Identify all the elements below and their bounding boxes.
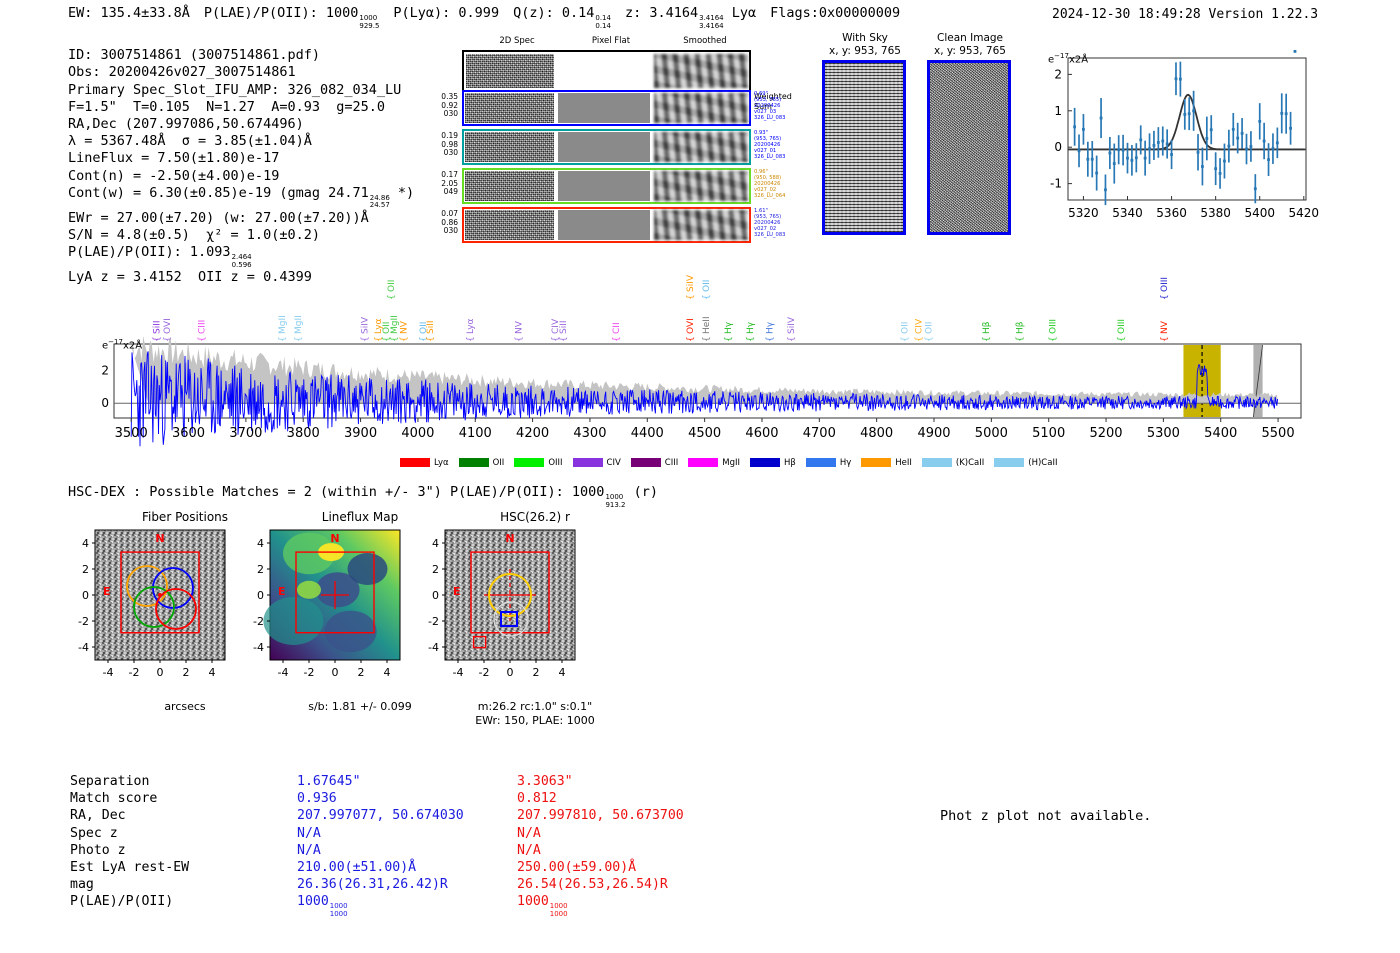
header-ew: EW: 135.4±33.8Å [68, 5, 190, 21]
legend-item: CIV [573, 452, 621, 471]
svg-text:-2: -2 [253, 615, 264, 628]
svg-text:{: { [702, 336, 712, 342]
clean-image-title: Clean Image [922, 32, 1018, 44]
info-line-id: ID: 3007514861 (3007514861.pdf) [68, 47, 320, 63]
svg-text:{: { [787, 336, 797, 342]
legend-item: CIII [631, 452, 678, 471]
svg-text:5380: 5380 [1200, 206, 1231, 220]
svg-text:SiII: SiII [426, 320, 436, 334]
svg-text:5200: 5200 [1089, 426, 1122, 441]
svg-text:NV: NV [1160, 320, 1170, 334]
svg-text:4: 4 [257, 537, 264, 550]
legend-item: (H)CaII [994, 452, 1057, 471]
svg-text:4200: 4200 [516, 426, 549, 441]
svg-text:OII: OII [901, 322, 911, 334]
svg-text:Hβ: Hβ [1015, 321, 1025, 334]
svg-text:5300: 5300 [1147, 426, 1180, 441]
svg-text:{: { [1117, 336, 1127, 342]
svg-text:4000: 4000 [401, 426, 434, 441]
row-label: mag [70, 877, 295, 892]
svg-text:5360: 5360 [1156, 206, 1187, 220]
svg-text:Hγ: Hγ [724, 321, 734, 334]
row-label: Photo z [70, 843, 295, 858]
svg-text:-4: -4 [278, 666, 289, 679]
row-label: Separation [70, 774, 295, 789]
svg-text:4: 4 [209, 666, 216, 679]
table-row: Photo zN/AN/A [70, 843, 684, 858]
table-row: mag26.36(26.31,26.42)R26.54(26.53,26.54)… [70, 877, 684, 892]
row-label: P(LAE)/P(OII) [70, 894, 295, 918]
svg-text:{: { [152, 336, 162, 342]
legend-swatch [750, 458, 780, 467]
svg-text:Hγ: Hγ [765, 321, 775, 334]
match-1-value: 207.997077, 50.674030 [297, 808, 515, 823]
legend-item: Hγ [806, 452, 851, 471]
svg-text:2: 2 [432, 563, 439, 576]
legend-label: Lyα [434, 458, 449, 468]
svg-text:{: { [278, 336, 288, 342]
legend-label: (K)CaII [956, 458, 984, 468]
legend-label: CIII [665, 458, 678, 468]
svg-text:5100: 5100 [1032, 426, 1065, 441]
svg-text:{: { [686, 336, 696, 342]
col-header-smoothed: Smoothed [660, 36, 750, 46]
legend-label: OII [493, 458, 505, 468]
svg-text:{: { [724, 336, 734, 342]
legend-swatch [514, 458, 544, 467]
spectrum-legend: LyαOIIOIIICIVCIIIMgIIHβHγHeII(K)CaII(H)C… [400, 452, 1067, 471]
table-row: Spec zN/AN/A [70, 826, 684, 841]
legend-swatch [400, 458, 430, 467]
legend-item: HeII [861, 452, 912, 471]
svg-text:{: { [294, 336, 304, 342]
match-1-value: N/A [297, 826, 515, 841]
svg-text:{: { [426, 336, 436, 342]
svg-text:CIV: CIV [914, 318, 924, 334]
svg-text:-2: -2 [479, 666, 490, 679]
svg-text:3600: 3600 [172, 426, 205, 441]
svg-text:0: 0 [1054, 140, 1062, 154]
svg-text:2: 2 [82, 563, 89, 576]
svg-text:OVI: OVI [686, 318, 696, 334]
row-label: Spec z [70, 826, 295, 841]
row-label: Est LyA rest-EW [70, 860, 295, 875]
svg-text:Hγ: Hγ [746, 321, 756, 334]
svg-text:4700: 4700 [803, 426, 836, 441]
svg-text:{: { [612, 336, 622, 342]
svg-text:{: { [925, 336, 935, 342]
svg-text:0: 0 [82, 589, 89, 602]
legend-swatch [573, 458, 603, 467]
legend-item: Lyα [400, 452, 449, 471]
detection-info-block: ID: 3007514861 (3007514861.pdf) Obs: 202… [68, 30, 414, 286]
svg-text:3800: 3800 [287, 426, 320, 441]
svg-text:N: N [155, 532, 164, 545]
svg-text:SiII: SiII [152, 320, 162, 334]
svg-text:4300: 4300 [573, 426, 606, 441]
panel-xlabel-ewr: EWr: 150, PLAE: 1000 [445, 714, 625, 727]
table-row: Match score0.9360.812 [70, 791, 684, 806]
match-2-value: 26.54(26.53,26.54)R [517, 877, 684, 892]
fiber-row-nums: 0.172.05049 [432, 171, 458, 197]
info-line-primary: Primary Spec_Slot_IFU_AMP: 326_082_034_L… [68, 82, 401, 98]
match-1-value: 1.67645" [297, 774, 515, 789]
svg-text:{: { [914, 336, 924, 342]
svg-text:5500: 5500 [1262, 426, 1295, 441]
svg-text:MgII: MgII [278, 315, 288, 334]
panel-xlabel-arcsecs: arcsecs [95, 700, 275, 713]
svg-text:2: 2 [101, 363, 109, 377]
match-table: Separation1.67645"3.3063"Match score0.93… [68, 772, 686, 920]
line-fit-plot: -1012532053405360538054005420 e−17x2Å [1038, 50, 1308, 225]
svg-text:3900: 3900 [344, 426, 377, 441]
with-sky-title: With Sky [820, 32, 910, 44]
svg-text:CII: CII [612, 322, 622, 334]
header-qz: Q(z): 0.140.140.14 [513, 5, 611, 21]
svg-text:OVI: OVI [163, 318, 173, 334]
match-plae-value: 100010001000 [517, 894, 684, 918]
svg-text:1: 1 [1054, 104, 1062, 118]
svg-text:0: 0 [332, 666, 339, 679]
svg-text:{: { [387, 294, 397, 300]
svg-text:N: N [330, 532, 339, 545]
fiber-row-nums: 0.070.86030 [432, 210, 458, 236]
col-header-pixelflat: Pixel Flat [566, 36, 656, 46]
svg-text:CIII: CIII [198, 320, 208, 334]
svg-text:SiII: SiII [559, 320, 569, 334]
svg-text:E: E [278, 585, 286, 598]
clean-image-image [927, 60, 1011, 235]
legend-item: MgII [688, 452, 740, 471]
spectrum-units: e−17x2Å [102, 338, 142, 351]
svg-text:Hβ: Hβ [982, 321, 992, 334]
photz-message: Phot z plot not available. [940, 808, 1151, 824]
svg-text:-4: -4 [78, 641, 89, 654]
svg-text:0: 0 [257, 589, 264, 602]
legend-swatch [994, 458, 1024, 467]
legend-label: (H)CaII [1028, 458, 1057, 468]
row-label: RA, Dec [70, 808, 295, 823]
svg-text:-4: -4 [103, 666, 114, 679]
svg-text:Lyα: Lyα [466, 318, 476, 334]
svg-text:4100: 4100 [459, 426, 492, 441]
svg-text:OIII: OIII [1049, 319, 1059, 334]
table-row: Est LyA rest-EW210.00(±51.00)Å250.00(±59… [70, 860, 684, 875]
svg-text:{: { [466, 336, 476, 342]
legend-swatch [459, 458, 489, 467]
svg-text:5320: 5320 [1068, 206, 1099, 220]
svg-text:-2: -2 [428, 615, 439, 628]
line-fit-units: e−17x2Å [1048, 52, 1088, 65]
svg-text:5400: 5400 [1204, 426, 1237, 441]
match-1-value: 26.36(26.31,26.42)R [297, 877, 515, 892]
svg-text:4: 4 [82, 537, 89, 550]
svg-text:SiIV: SiIV [787, 316, 797, 334]
svg-text:4400: 4400 [631, 426, 664, 441]
fiber-row-nums: 0.350.92030 [432, 93, 458, 119]
legend-item: (K)CaII [922, 452, 984, 471]
svg-text:4500: 4500 [688, 426, 721, 441]
svg-text:HeII: HeII [702, 316, 712, 334]
svg-text:OII: OII [702, 280, 712, 292]
svg-text:0: 0 [432, 589, 439, 602]
table-row: P(LAE)/P(OII)100010001000100010001000 [70, 894, 684, 918]
svg-text:N: N [505, 532, 514, 545]
info-line-params: F=1.5" T=0.105 N=1.27 A=0.93 g=25.0 [68, 99, 385, 115]
svg-text:SiIV: SiIV [686, 274, 696, 292]
legend-swatch [806, 458, 836, 467]
svg-text:{: { [746, 336, 756, 342]
svg-text:{: { [163, 336, 173, 342]
svg-text:2: 2 [257, 563, 264, 576]
info-line-snr: S/N = 4.8(±0.5) χ² = 1.0(±0.2) [68, 227, 320, 243]
svg-text:MgII: MgII [294, 315, 304, 334]
legend-swatch [922, 458, 952, 467]
svg-text:{: { [198, 336, 208, 342]
svg-text:SiIV: SiIV [360, 316, 370, 334]
svg-text:5340: 5340 [1112, 206, 1143, 220]
svg-text:{: { [399, 336, 409, 342]
match-1-value: N/A [297, 843, 515, 858]
svg-text:2: 2 [1054, 67, 1062, 81]
legend-swatch [631, 458, 661, 467]
svg-text:{: { [515, 336, 525, 342]
svg-text:-2: -2 [78, 615, 89, 628]
row-label: Match score [70, 791, 295, 806]
panel-xlabel-sb: s/b: 1.81 +/- 0.099 [270, 700, 450, 713]
match-2-value: 3.3063" [517, 774, 684, 789]
legend-item: OIII [514, 452, 562, 471]
cutout-panels: Fiber Positions Lineflux Map HSC(26.2) r… [60, 510, 680, 725]
svg-text:0: 0 [507, 666, 514, 679]
legend-item: OII [459, 452, 505, 471]
legend-label: Hγ [840, 458, 851, 468]
svg-text:5400: 5400 [1244, 206, 1275, 220]
legend-label: MgII [722, 458, 740, 468]
with-sky-coords: x, y: 953, 765 [812, 45, 918, 57]
svg-text:5000: 5000 [975, 426, 1008, 441]
svg-text:-2: -2 [304, 666, 315, 679]
full-spectrum-plot: 0235003600370038003900400041004200430044… [96, 278, 1306, 468]
svg-text:OII: OII [387, 280, 397, 292]
svg-text:E: E [103, 585, 111, 598]
info-line-radec: RA,Dec (207.997086,50.674496) [68, 116, 304, 132]
weighted-sum-row [462, 50, 751, 92]
header-plae: P(LAE)/P(OII): 10001000929.5 [204, 5, 379, 21]
svg-text:-2: -2 [129, 666, 140, 679]
info-line-lambda: λ = 5367.48Å σ = 3.85(±1.04)Å [68, 133, 312, 149]
header-flags: Flags:0x00000009 [770, 5, 900, 21]
svg-text:4: 4 [432, 537, 439, 550]
svg-text:-4: -4 [428, 641, 439, 654]
svg-text:{: { [765, 336, 775, 342]
svg-text:{: { [1015, 336, 1025, 342]
svg-text:2: 2 [183, 666, 190, 679]
legend-label: HeII [895, 458, 912, 468]
svg-text:4: 4 [559, 666, 566, 679]
legend-item: Hβ [750, 452, 796, 471]
svg-text:{: { [1049, 336, 1059, 342]
match-2-value: 0.812 [517, 791, 684, 806]
svg-text:3700: 3700 [229, 426, 262, 441]
with-sky-image [822, 60, 906, 235]
svg-text:{: { [1160, 294, 1170, 300]
svg-text:0: 0 [101, 396, 109, 410]
svg-text:4600: 4600 [745, 426, 778, 441]
svg-text:OIII: OIII [1160, 277, 1170, 292]
svg-text:OIII: OIII [1117, 319, 1127, 334]
info-line-plae: P(LAE)/P(OII): 1.0932.4640.596 [68, 244, 252, 260]
svg-text:{: { [559, 336, 569, 342]
svg-text:NV: NV [399, 320, 409, 334]
svg-text:OII: OII [925, 322, 935, 334]
match-2-value: 250.00(±59.00)Å [517, 860, 684, 875]
svg-text:{: { [1160, 336, 1170, 342]
svg-text:2: 2 [533, 666, 540, 679]
svg-text:{: { [686, 294, 696, 300]
svg-text:4900: 4900 [917, 426, 950, 441]
info-line-lineflux: LineFlux = 7.50(±1.80)e-17 [68, 150, 279, 166]
header-plya: P(Lyα): 0.999 [393, 5, 499, 21]
table-row: RA, Dec207.997077, 50.674030207.997810, … [70, 808, 684, 823]
svg-text:-4: -4 [253, 641, 264, 654]
legend-label: CIV [607, 458, 621, 468]
table-row: Separation1.67645"3.3063" [70, 774, 684, 789]
legend-label: OIII [548, 458, 562, 468]
panel-xlabel-mag: m:26.2 rc:1.0" s:0.1" [445, 700, 625, 713]
svg-text:3500: 3500 [115, 426, 148, 441]
timestamp-version: 2024-12-30 18:49:28 Version 1.22.3 [1052, 7, 1318, 22]
info-line-ewr: EWr = 27.00(±7.20) (w: 27.00(±7.20))Å [68, 210, 369, 226]
hscdex-header: HSC-DEX : Possible Matches = 2 (within +… [68, 484, 658, 509]
info-line-contw: Cont(w) = 6.30(±0.85)e-19 (gmag 24.7124.… [68, 185, 414, 201]
svg-text:{: { [901, 336, 911, 342]
fiber-row-nums: 0.190.98030 [432, 132, 458, 158]
info-line-contn: Cont(n) = -2.50(±4.00)e-19 [68, 168, 279, 184]
match-1-value: 0.936 [297, 791, 515, 806]
svg-text:0: 0 [157, 666, 164, 679]
svg-text:NV: NV [515, 320, 525, 334]
match-2-value: N/A [517, 843, 684, 858]
legend-swatch [861, 458, 891, 467]
svg-text:{: { [360, 336, 370, 342]
match-plae-value: 100010001000 [297, 894, 515, 918]
svg-text:5420: 5420 [1289, 206, 1320, 220]
match-2-value: 207.997810, 50.673700 [517, 808, 684, 823]
header-summary-line: EW: 135.4±33.8ÅP(LAE)/P(OII): 1000100092… [68, 5, 914, 30]
match-2-value: N/A [517, 826, 684, 841]
svg-text:E: E [453, 585, 461, 598]
col-header-2dspec: 2D Spec [472, 36, 562, 46]
legend-swatch [688, 458, 718, 467]
header-z: z: 3.41643.41643.4164 Lyα [625, 5, 756, 21]
info-line-obs: Obs: 20200426v027_3007514861 [68, 64, 296, 80]
legend-label: Hβ [784, 458, 796, 468]
svg-text:-1: -1 [1050, 177, 1062, 191]
svg-text:2: 2 [358, 666, 365, 679]
match-1-value: 210.00(±51.00)Å [297, 860, 515, 875]
svg-text:-4: -4 [453, 666, 464, 679]
svg-text:{: { [982, 336, 992, 342]
clean-image-coords: x, y: 953, 765 [917, 45, 1023, 57]
svg-text:4: 4 [384, 666, 391, 679]
svg-text:{: { [702, 294, 712, 300]
svg-text:4800: 4800 [860, 426, 893, 441]
